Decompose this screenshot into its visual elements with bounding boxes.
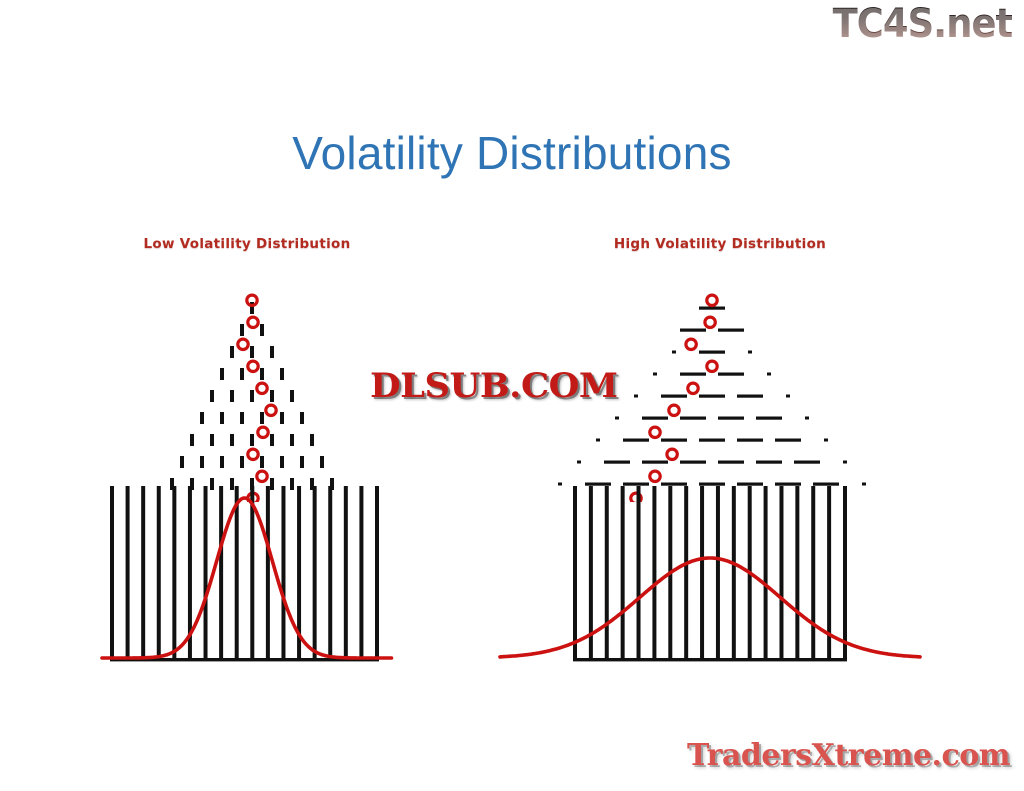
high-volatility-panel: High Volatility Distribution xyxy=(490,236,950,676)
high-volatility-histogram xyxy=(490,486,950,676)
low-volatility-histogram xyxy=(92,486,402,676)
high-volatility-label: High Volatility Distribution xyxy=(490,236,950,252)
low-volatility-panel: Low Volatility Distribution xyxy=(92,236,402,676)
dlsub-watermark: DLSUB.COM xyxy=(370,369,618,403)
slide-canvas: TC4S.net Volatility Distributions Low Vo… xyxy=(0,0,1024,791)
tc4s-watermark: TC4S.net xyxy=(832,4,1012,44)
page-title: Volatility Distributions xyxy=(0,126,1024,180)
tradersxtreme-watermark: TradersXtreme.com xyxy=(687,741,1010,771)
low-volatility-label: Low Volatility Distribution xyxy=(92,236,402,252)
low-volatility-galton-board xyxy=(92,262,402,502)
